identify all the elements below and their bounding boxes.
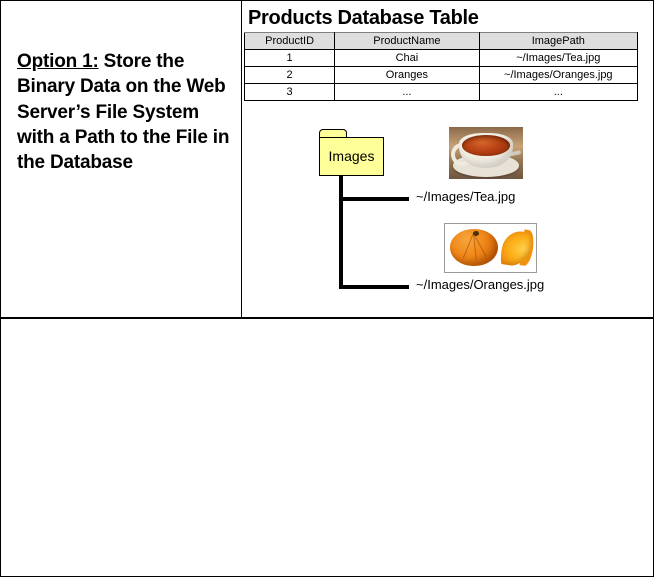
diagram-canvas: Option 1: Store the Binary Data on the W… [0, 0, 654, 577]
cell-productid: 3 [245, 84, 335, 101]
panel-option-1: Option 1: Store the Binary Data on the W… [1, 1, 653, 319]
table-row: 2 Oranges ~/Images/Oranges.jpg [245, 67, 638, 84]
folder-label: Images [319, 137, 384, 176]
option-1-table-title: Products Database Table [248, 7, 479, 30]
column-header-productname: ProductName [335, 33, 479, 50]
file-system-tree: Images ~/Images/Tea.jpg [244, 119, 638, 314]
table-header-row: ProductID ProductName ImagePath [245, 33, 638, 50]
oranges-photo-icon [444, 223, 537, 273]
orange-stem-shape [473, 231, 479, 236]
cell-productname: Oranges [335, 67, 479, 84]
panel-1-column-divider [241, 1, 242, 318]
tree-node-label-oranges: ~/Images/Oranges.jpg [416, 277, 544, 292]
cell-productid: 2 [245, 67, 335, 84]
cell-imagepath: ~/Images/Tea.jpg [479, 50, 637, 67]
tree-trunk-line [339, 175, 343, 289]
folder-icon: Images [319, 129, 384, 176]
cell-imagepath: ... [479, 84, 637, 101]
cell-productname: Chai [335, 50, 479, 67]
option-1-products-table: ProductID ProductName ImagePath 1 Chai ~… [244, 32, 638, 101]
tea-cup-artwork [449, 127, 523, 179]
column-header-productid: ProductID [245, 33, 335, 50]
option-1-caption: Option 1: Store the Binary Data on the W… [17, 49, 235, 175]
cell-productid: 1 [245, 50, 335, 67]
tea-cup-photo-icon [449, 127, 523, 179]
table-row: 1 Chai ~/Images/Tea.jpg [245, 50, 638, 67]
tree-branch-line-1 [339, 197, 409, 201]
tree-node-label-tea: ~/Images/Tea.jpg [416, 189, 515, 204]
tree-branch-line-2 [339, 285, 409, 289]
table-row: 3 ... ... [245, 84, 638, 101]
column-header-imagepath: ImagePath [479, 33, 637, 50]
panel-option-2: Option 2: Store the Binary Data in a Tab… [1, 319, 653, 576]
tea-liquid-shape [462, 135, 509, 156]
oranges-artwork [445, 224, 536, 272]
cell-imagepath: ~/Images/Oranges.jpg [479, 67, 637, 84]
option-1-label: Option 1: [17, 51, 99, 72]
cell-productname: ... [335, 84, 479, 101]
